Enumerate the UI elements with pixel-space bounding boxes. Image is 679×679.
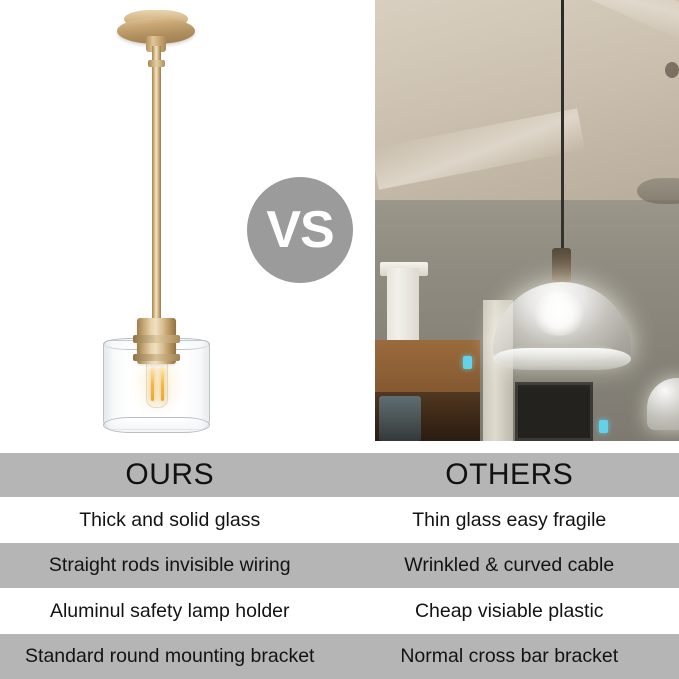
photo-ceiling-knob (665, 62, 679, 78)
filament-left (151, 368, 154, 401)
comparison-infographic: VS (0, 0, 679, 679)
cell-others-4: Normal cross bar bracket (340, 645, 679, 668)
photo-dome-hotspot (533, 292, 585, 336)
photo-hanging-cable (561, 0, 564, 252)
vs-badge-label: VS (266, 204, 333, 256)
glass-shade-bottom-rim (103, 417, 210, 433)
table-row: Straight rods invisible wiring Wrinkled … (0, 543, 679, 588)
rod-joint (148, 60, 165, 67)
cell-others-1: Thin glass easy fragile (340, 509, 679, 532)
table-header-row: OURS OTHERS (0, 453, 679, 497)
hero-section: VS (0, 0, 679, 453)
cell-ours-4: Standard round mounting bracket (0, 645, 340, 668)
photo-led-indicator-2 (599, 420, 608, 433)
table-row: Standard round mounting bracket Normal c… (0, 634, 679, 679)
cell-others-2: Wrinkled & curved cable (340, 554, 679, 577)
photo-dome-bottom-rim (493, 348, 631, 370)
comparison-table: OURS OTHERS Thick and solid glass Thin g… (0, 453, 679, 679)
brass-rod (152, 46, 161, 321)
vs-badge: VS (247, 177, 353, 283)
filament-right (161, 368, 164, 401)
edison-bulb (146, 360, 168, 408)
photo-led-indicator-1 (463, 356, 472, 369)
cell-ours-1: Thick and solid glass (0, 509, 340, 532)
photo-bronze-socket (552, 248, 571, 282)
photo-tv-frame (515, 382, 593, 441)
others-product-photo (375, 0, 679, 441)
photo-ceiling-fixture (637, 178, 679, 204)
cell-others-3: Cheap visiable plastic (340, 600, 679, 623)
table-row: Thick and solid glass Thin glass easy fr… (0, 497, 679, 543)
header-others: OTHERS (340, 458, 679, 492)
cell-ours-2: Straight rods invisible wiring (0, 554, 340, 577)
table-row: Aluminul safety lamp holder Cheap visiab… (0, 588, 679, 634)
cell-ours-3: Aluminul safety lamp holder (0, 600, 340, 623)
header-ours: OURS (0, 458, 340, 492)
photo-cabinet-items (379, 396, 421, 441)
lamp-holder-ring-top (133, 335, 180, 343)
lamp-holder-ring-bottom (133, 354, 180, 361)
photo-ceiling (375, 0, 679, 232)
